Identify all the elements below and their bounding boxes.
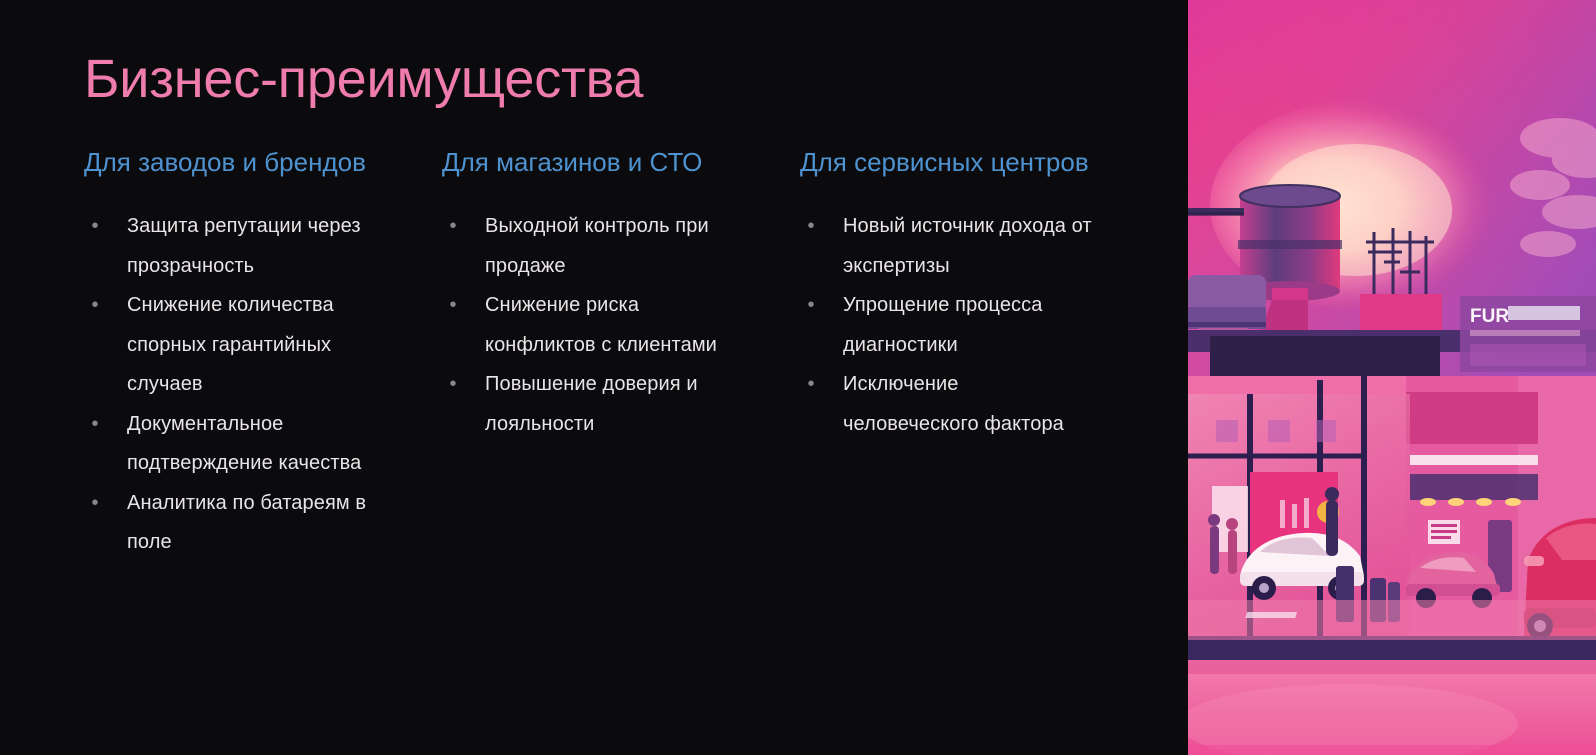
list-item-text: Документальное подтверждение качества: [127, 413, 361, 475]
list-item-text: Снижение количества спорных гарантийных …: [127, 294, 334, 395]
photo-illustration: FUR: [1188, 0, 1596, 755]
bullet-dot-icon: •: [84, 484, 106, 524]
list-item-text: Аналитика по батареям в поле: [127, 492, 366, 554]
page-title: Бизнес-преимущества: [84, 44, 643, 114]
bullet-list-service-centers: • Новый источник дохода от экспертизы • …: [800, 207, 1100, 444]
list-item: • Повышение доверия и лояльности: [442, 365, 742, 444]
bullet-dot-icon: •: [800, 207, 822, 247]
slide-photo: FUR: [1188, 0, 1596, 755]
bullet-dot-icon: •: [800, 286, 822, 326]
list-item: • Снижение количества спорных гарантийны…: [84, 286, 384, 405]
list-item: • Выходной контроль при продаже: [442, 207, 742, 286]
bullet-dot-icon: •: [84, 405, 106, 445]
column-heading-shops: Для магазинов и СТО: [442, 140, 742, 185]
list-item-text: Выходной контроль при продаже: [485, 215, 709, 277]
list-item: • Исключение человеческого фактора: [800, 365, 1093, 444]
bullet-dot-icon: •: [442, 365, 464, 405]
benefit-column-shops: Для магазинов и СТО • Выходной контроль …: [442, 140, 742, 563]
list-item: • Упрощение процесса диагностики: [800, 286, 1093, 365]
bullet-dot-icon: •: [800, 365, 822, 405]
bullet-dot-icon: •: [84, 207, 106, 247]
bullet-dot-icon: •: [442, 207, 464, 247]
list-item: • Документальное подтверждение качества: [84, 405, 384, 484]
list-item-text: Исключение человеческого фактора: [843, 373, 1064, 435]
billboard-text: FUR: [1470, 306, 1509, 327]
benefit-column-service-centers: Для сервисных центров • Новый источник д…: [800, 140, 1100, 563]
forecourt: [1188, 600, 1596, 640]
list-item-text: Защита репутации через прозрачность: [127, 215, 361, 277]
left-plant-block: [1188, 275, 1266, 334]
bullet-list-shops: • Выходной контроль при продаже • Снижен…: [442, 207, 742, 444]
list-item-text: Упрощение процесса диагностики: [843, 294, 1043, 356]
list-item: • Снижение риска конфликтов с клиентами: [442, 286, 742, 365]
list-item-text: Снижение риска конфликтов с клиентами: [485, 294, 717, 356]
list-item: • Новый источник дохода от экспертизы: [800, 207, 1093, 286]
pylon-base: [1360, 294, 1442, 334]
column-heading-factories: Для заводов и брендов: [84, 140, 384, 185]
list-item: • Защита репутации через прозрачность: [84, 207, 384, 286]
list-item: • Аналитика по батареям в поле: [84, 484, 384, 563]
list-item-text: Повышение доверия и лояльности: [485, 373, 698, 435]
benefit-columns: Для заводов и брендов • Защита репутации…: [84, 140, 1144, 563]
billboard-sign: FUR: [1460, 296, 1596, 372]
neon-strip: [1410, 455, 1538, 465]
factory-roof: [1210, 336, 1440, 376]
upper-windows: [1216, 420, 1336, 442]
bullet-dot-icon: •: [84, 286, 106, 326]
column-heading-service-centers: Для сервисных центров: [800, 140, 1100, 185]
bullet-dot-icon: •: [442, 286, 464, 326]
list-item-text: Новый источник дохода от экспертизы: [843, 215, 1092, 277]
slide-root: Бизнес-преимущества Для заводов и брендо…: [0, 0, 1596, 755]
bullet-list-factories: • Защита репутации через прозрачность • …: [84, 207, 384, 563]
content-panel: Бизнес-преимущества Для заводов и брендо…: [0, 0, 1188, 755]
benefit-column-factories: Для заводов и брендов • Защита репутации…: [84, 140, 384, 563]
